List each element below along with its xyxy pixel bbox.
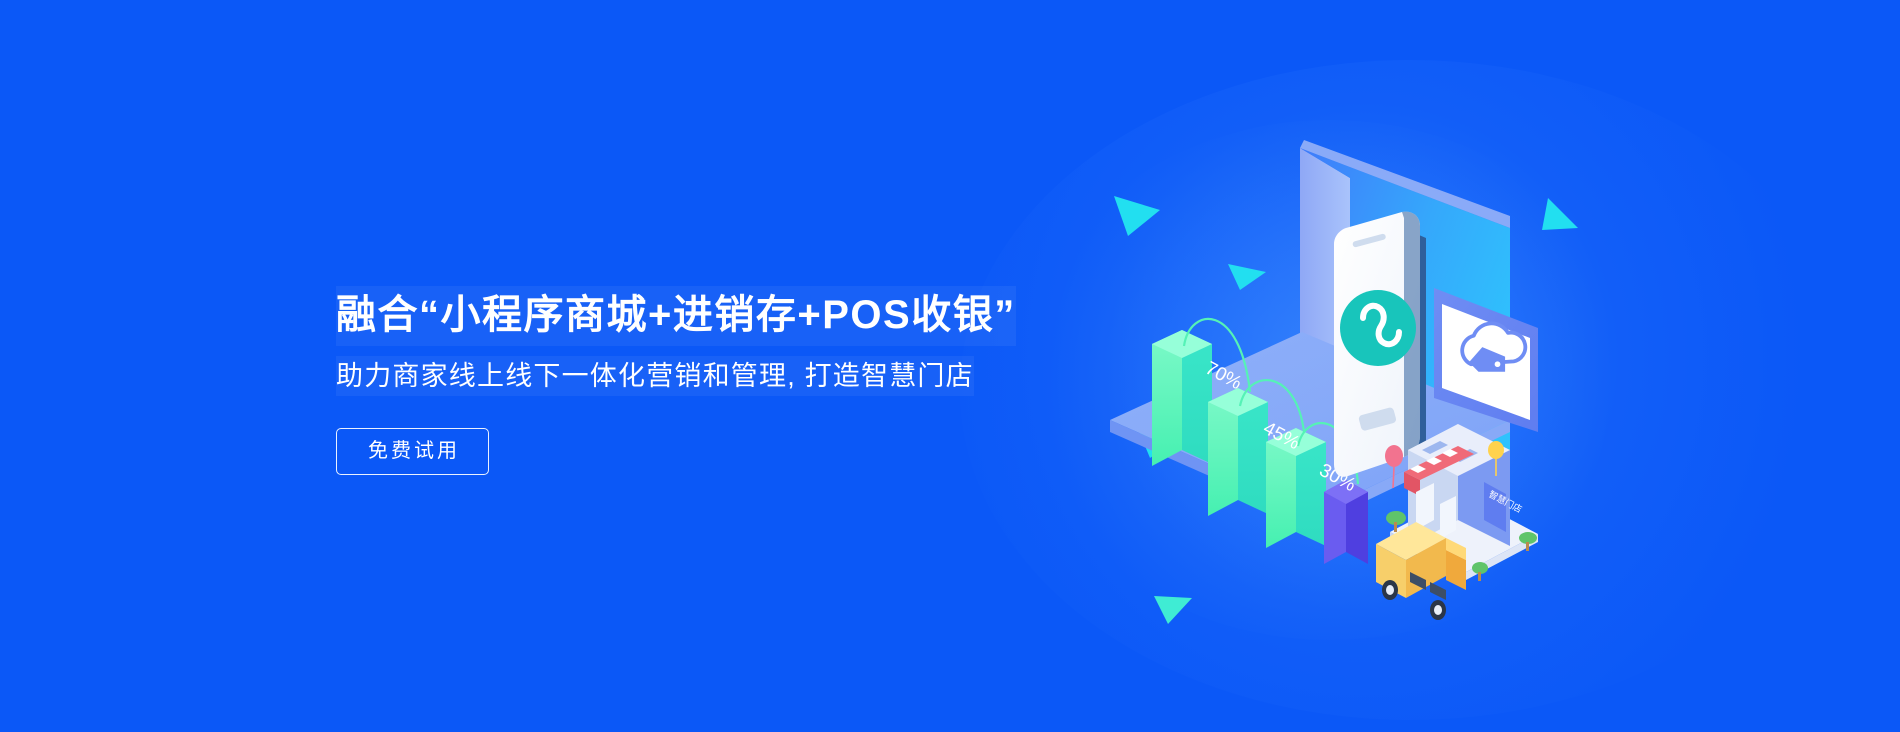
- bar-45: [1208, 388, 1268, 516]
- bar-70: [1152, 330, 1212, 466]
- page-title: 融合“小程序商城+进销存+POS收银”: [336, 286, 1016, 346]
- hero-illustration: 70% 45% 30%: [1090, 120, 1590, 640]
- cta-container: 免费试用: [336, 428, 1096, 475]
- smartphone: [1334, 212, 1426, 480]
- page-subtitle: 助力商家线上线下一体化营销和管理, 打造智慧门店: [336, 356, 974, 397]
- hero-copy: 融合“小程序商城+进销存+POS收银” 助力商家线上线下一体化营销和管理, 打造…: [336, 286, 1096, 475]
- tree-bottom: [1472, 562, 1488, 581]
- free-trial-button[interactable]: 免费试用: [336, 428, 489, 475]
- hero-banner: 融合“小程序商城+进销存+POS收银” 助力商家线上线下一体化营销和管理, 打造…: [0, 0, 1900, 732]
- wechat-mini-program-icon: [1340, 290, 1416, 366]
